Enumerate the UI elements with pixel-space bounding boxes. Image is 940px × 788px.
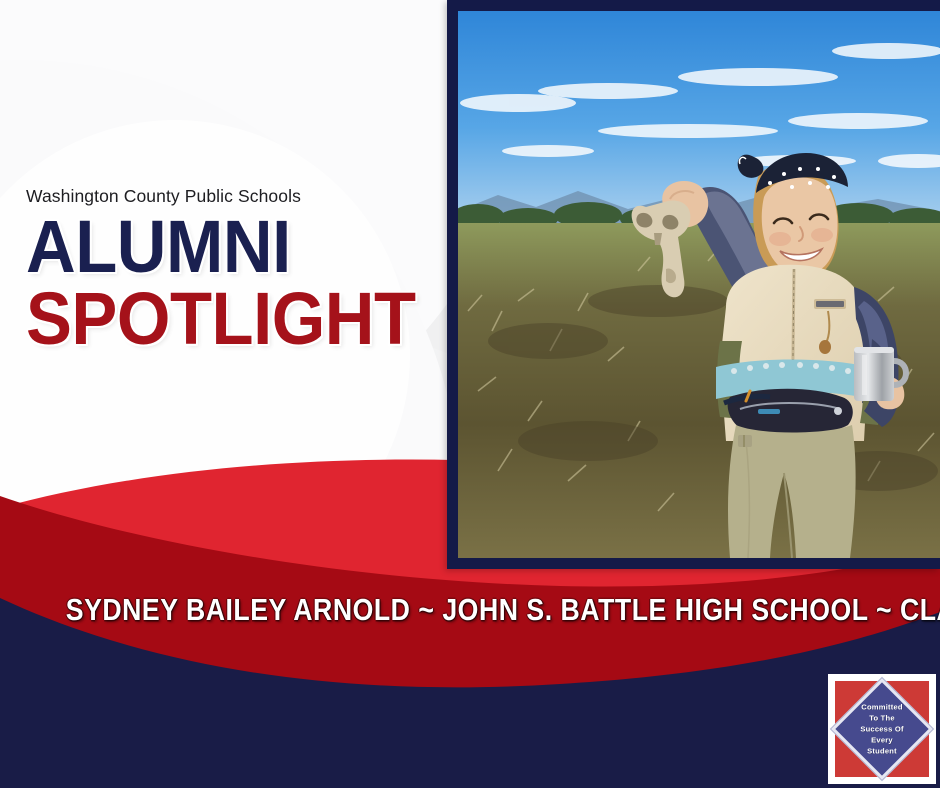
page-title-spotlight: SPOTLIGHT bbox=[26, 285, 398, 353]
alumni-caption: SYDNEY BAILEY ARNOLD ~ JOHN S. BATTLE HI… bbox=[66, 592, 874, 628]
district-logo: Committed To The Success Of Every Studen… bbox=[828, 674, 936, 784]
logo-blue-diamond bbox=[831, 678, 933, 780]
headline-block: Washington County Public Schools ALUMNI … bbox=[26, 186, 426, 353]
page-title-alumni: ALUMNI bbox=[26, 213, 398, 281]
photo-frame bbox=[447, 0, 940, 569]
alumni-photo bbox=[458, 11, 940, 558]
photo-illustration bbox=[458, 11, 940, 558]
logo-red-square: Committed To The Success Of Every Studen… bbox=[835, 681, 929, 777]
alumni-spotlight-poster: Washington County Public Schools ALUMNI … bbox=[0, 0, 940, 788]
district-name: Washington County Public Schools bbox=[26, 186, 426, 207]
